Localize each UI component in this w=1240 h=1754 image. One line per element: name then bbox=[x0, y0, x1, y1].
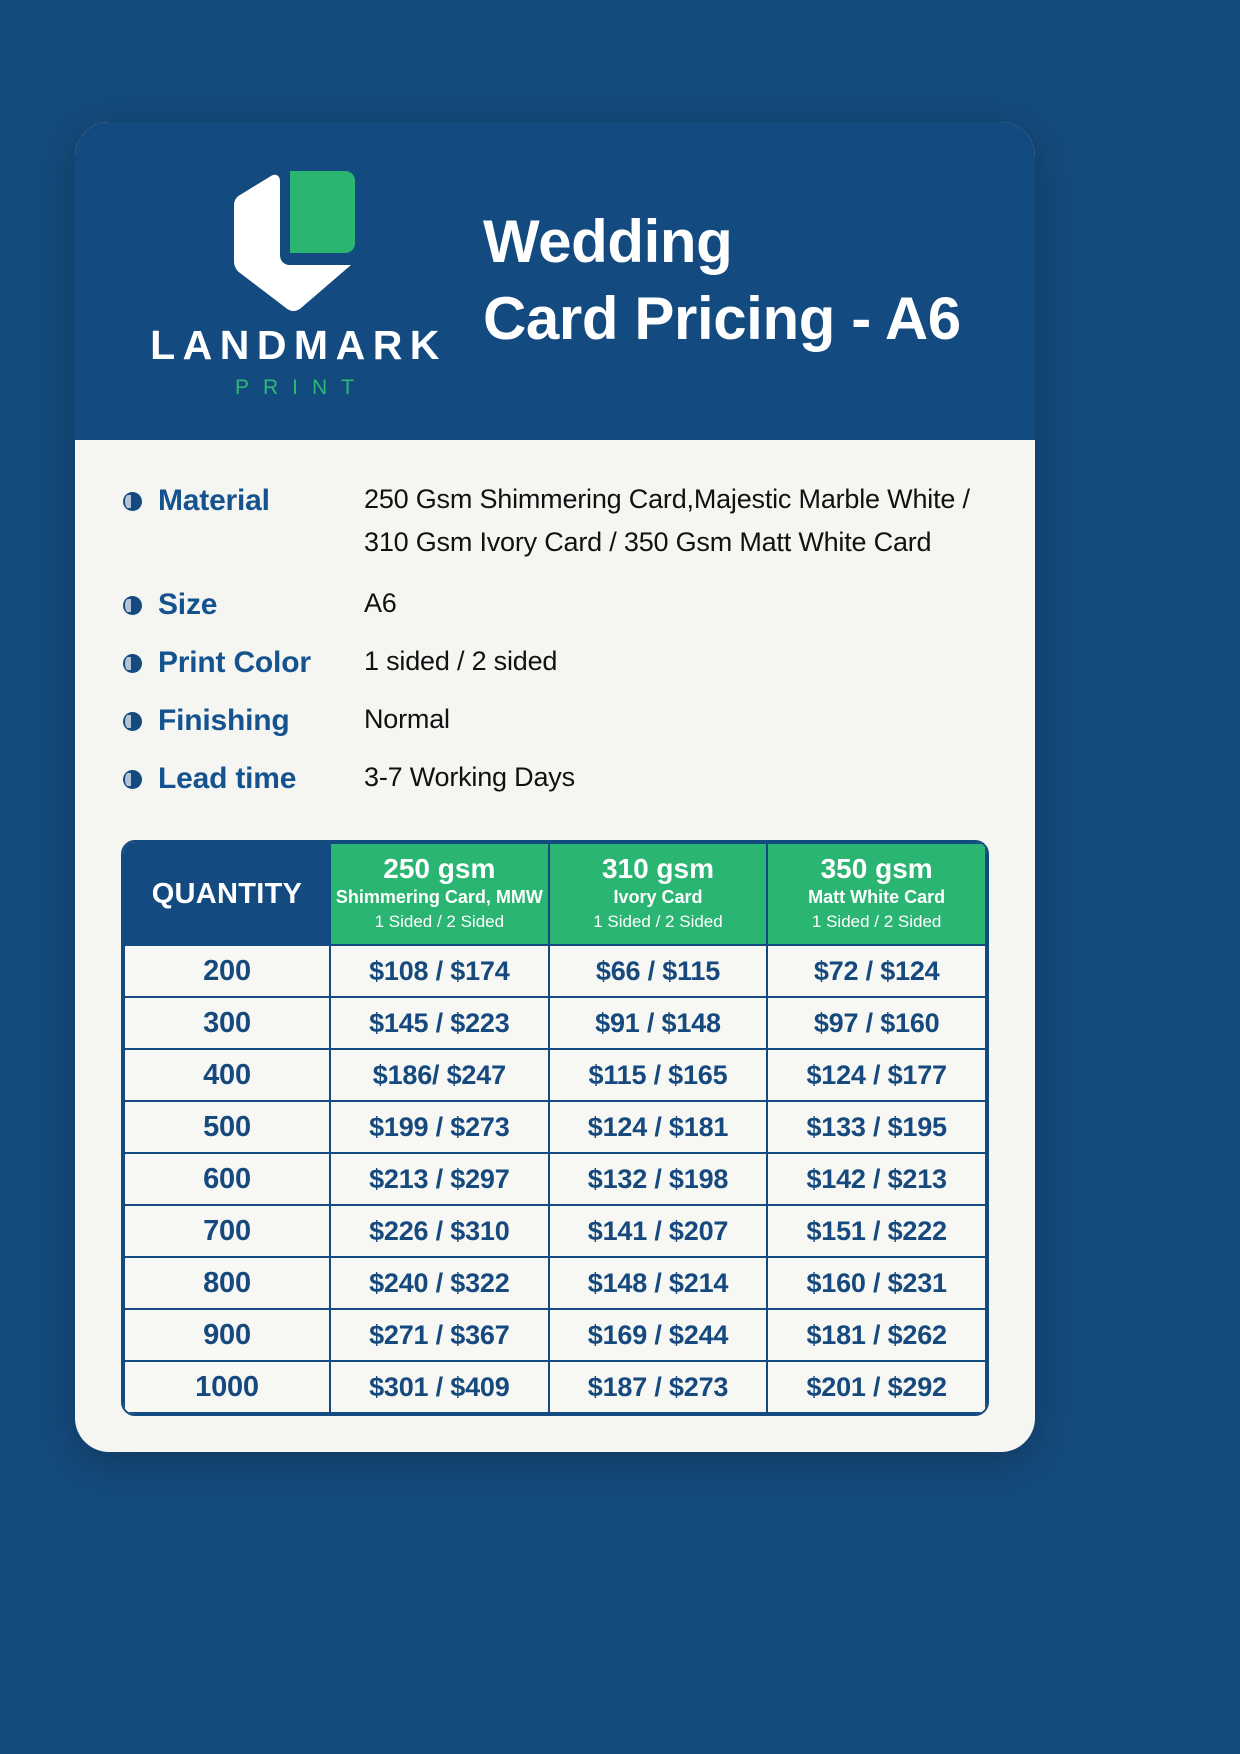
cell-price-310gsm: $132 / $198 bbox=[549, 1153, 768, 1205]
spec-label: Lead time bbox=[158, 756, 364, 801]
cell-price-310gsm: $124 / $181 bbox=[549, 1101, 768, 1153]
cell-price-310gsm: $91 / $148 bbox=[549, 997, 768, 1049]
cell-price-250gsm: $240 / $322 bbox=[330, 1257, 549, 1309]
bullet-icon bbox=[123, 770, 142, 789]
grade-gsm: 250 gsm bbox=[335, 853, 544, 885]
page-title: Wedding Card Pricing - A6 bbox=[475, 204, 961, 358]
spec-value: 250 Gsm Shimmering Card,Majestic Marble … bbox=[364, 478, 970, 563]
grade-sides: 1 Sided / 2 Sided bbox=[554, 911, 763, 933]
spec-row-finishing: Finishing Normal bbox=[123, 698, 1035, 748]
column-header-quantity: QUANTITY bbox=[124, 843, 330, 945]
title-line-2: Card Pricing - A6 bbox=[483, 281, 961, 358]
spec-value-line-1: 250 Gsm Shimmering Card,Majestic Marble … bbox=[364, 484, 970, 514]
cell-price-350gsm: $181 / $262 bbox=[767, 1309, 986, 1361]
spec-label: Size bbox=[158, 582, 364, 627]
pricing-table: QUANTITY 250 gsm Shimmering Card, MMW 1 … bbox=[123, 842, 987, 1414]
cell-price-310gsm: $66 / $115 bbox=[549, 945, 768, 997]
cell-quantity: 800 bbox=[124, 1257, 330, 1309]
table-row: 900 $271 / $367 $169 / $244 $181 / $262 bbox=[124, 1309, 986, 1361]
spec-value: 3-7 Working Days bbox=[364, 756, 575, 799]
cell-price-250gsm: $226 / $310 bbox=[330, 1205, 549, 1257]
cell-price-350gsm: $133 / $195 bbox=[767, 1101, 986, 1153]
bullet-icon bbox=[123, 654, 142, 673]
cell-price-250gsm: $108 / $174 bbox=[330, 945, 549, 997]
cell-price-350gsm: $160 / $231 bbox=[767, 1257, 986, 1309]
bullet-icon bbox=[123, 492, 142, 511]
cell-quantity: 500 bbox=[124, 1101, 330, 1153]
spec-list: Material 250 Gsm Shimmering Card,Majesti… bbox=[75, 440, 1035, 806]
spec-row-size: Size A6 bbox=[123, 582, 1035, 632]
grade-name: Matt White Card bbox=[772, 886, 981, 909]
pricing-card: LANDMARK PRINT Wedding Card Pricing - A6… bbox=[75, 122, 1035, 1452]
cell-price-350gsm: $201 / $292 bbox=[767, 1361, 986, 1413]
landmark-l-logo-icon bbox=[227, 165, 363, 315]
grade-name: Shimmering Card, MMW bbox=[335, 886, 544, 909]
cell-price-250gsm: $145 / $223 bbox=[330, 997, 549, 1049]
spec-value: 1 sided / 2 sided bbox=[364, 640, 557, 683]
table-row: 300 $145 / $223 $91 / $148 $97 / $160 bbox=[124, 997, 986, 1049]
cell-price-310gsm: $141 / $207 bbox=[549, 1205, 768, 1257]
grade-sides: 1 Sided / 2 Sided bbox=[772, 911, 981, 933]
cell-price-250gsm: $186/ $247 bbox=[330, 1049, 549, 1101]
cell-price-250gsm: $199 / $273 bbox=[330, 1101, 549, 1153]
spec-row-material: Material 250 Gsm Shimmering Card,Majesti… bbox=[123, 478, 1035, 574]
cell-quantity: 700 bbox=[124, 1205, 330, 1257]
card-header: LANDMARK PRINT Wedding Card Pricing - A6 bbox=[75, 122, 1035, 440]
spec-value: Normal bbox=[364, 698, 450, 741]
cell-quantity: 200 bbox=[124, 945, 330, 997]
grade-sides: 1 Sided / 2 Sided bbox=[335, 911, 544, 933]
spec-row-print-color: Print Color 1 sided / 2 sided bbox=[123, 640, 1035, 690]
pricing-table-wrapper: QUANTITY 250 gsm Shimmering Card, MMW 1 … bbox=[121, 840, 989, 1416]
cell-price-350gsm: $97 / $160 bbox=[767, 997, 986, 1049]
table-row: 200 $108 / $174 $66 / $115 $72 / $124 bbox=[124, 945, 986, 997]
cell-price-350gsm: $142 / $213 bbox=[767, 1153, 986, 1205]
cell-quantity: 1000 bbox=[124, 1361, 330, 1413]
table-row: 800 $240 / $322 $148 / $214 $160 / $231 bbox=[124, 1257, 986, 1309]
cell-price-250gsm: $213 / $297 bbox=[330, 1153, 549, 1205]
table-row: 500 $199 / $273 $124 / $181 $133 / $195 bbox=[124, 1101, 986, 1153]
grade-gsm: 350 gsm bbox=[772, 853, 981, 885]
cell-price-310gsm: $115 / $165 bbox=[549, 1049, 768, 1101]
cell-price-350gsm: $72 / $124 bbox=[767, 945, 986, 997]
pricing-flyer-page: LANDMARK PRINT Wedding Card Pricing - A6… bbox=[0, 0, 1240, 1754]
cell-price-250gsm: $271 / $367 bbox=[330, 1309, 549, 1361]
title-line-1: Wedding bbox=[483, 204, 961, 281]
cell-price-250gsm: $301 / $409 bbox=[330, 1361, 549, 1413]
spec-value: A6 bbox=[364, 582, 397, 625]
cell-price-350gsm: $151 / $222 bbox=[767, 1205, 986, 1257]
cell-quantity: 300 bbox=[124, 997, 330, 1049]
table-row: 1000 $301 / $409 $187 / $273 $201 / $292 bbox=[124, 1361, 986, 1413]
cell-quantity: 400 bbox=[124, 1049, 330, 1101]
pricing-table-head: QUANTITY 250 gsm Shimmering Card, MMW 1 … bbox=[124, 843, 986, 945]
spec-row-lead-time: Lead time 3-7 Working Days bbox=[123, 756, 1035, 806]
spec-value-line-2: 310 Gsm Ivory Card / 350 Gsm Matt White … bbox=[364, 527, 931, 557]
column-header-310gsm: 310 gsm Ivory Card 1 Sided / 2 Sided bbox=[549, 843, 768, 945]
grade-name: Ivory Card bbox=[554, 886, 763, 909]
cell-price-350gsm: $124 / $177 bbox=[767, 1049, 986, 1101]
cell-price-310gsm: $169 / $244 bbox=[549, 1309, 768, 1361]
cell-quantity: 600 bbox=[124, 1153, 330, 1205]
spec-label: Material bbox=[158, 478, 364, 523]
pricing-table-body: 200 $108 / $174 $66 / $115 $72 / $124 30… bbox=[124, 945, 986, 1413]
cell-quantity: 900 bbox=[124, 1309, 330, 1361]
column-header-250gsm: 250 gsm Shimmering Card, MMW 1 Sided / 2… bbox=[330, 843, 549, 945]
brand-logo: LANDMARK PRINT bbox=[75, 165, 475, 398]
cell-price-310gsm: $148 / $214 bbox=[549, 1257, 768, 1309]
bullet-icon bbox=[123, 712, 142, 731]
brand-name: LANDMARK bbox=[143, 325, 447, 366]
table-row: 700 $226 / $310 $141 / $207 $151 / $222 bbox=[124, 1205, 986, 1257]
cell-price-310gsm: $187 / $273 bbox=[549, 1361, 768, 1413]
grade-gsm: 310 gsm bbox=[554, 853, 763, 885]
table-row: 600 $213 / $297 $132 / $198 $142 / $213 bbox=[124, 1153, 986, 1205]
bullet-icon bbox=[123, 596, 142, 615]
spec-label: Finishing bbox=[158, 698, 364, 743]
spec-label: Print Color bbox=[158, 640, 364, 685]
table-row: 400 $186/ $247 $115 / $165 $124 / $177 bbox=[124, 1049, 986, 1101]
column-header-350gsm: 350 gsm Matt White Card 1 Sided / 2 Side… bbox=[767, 843, 986, 945]
table-header-row: QUANTITY 250 gsm Shimmering Card, MMW 1 … bbox=[124, 843, 986, 945]
brand-tagline: PRINT bbox=[222, 377, 368, 398]
